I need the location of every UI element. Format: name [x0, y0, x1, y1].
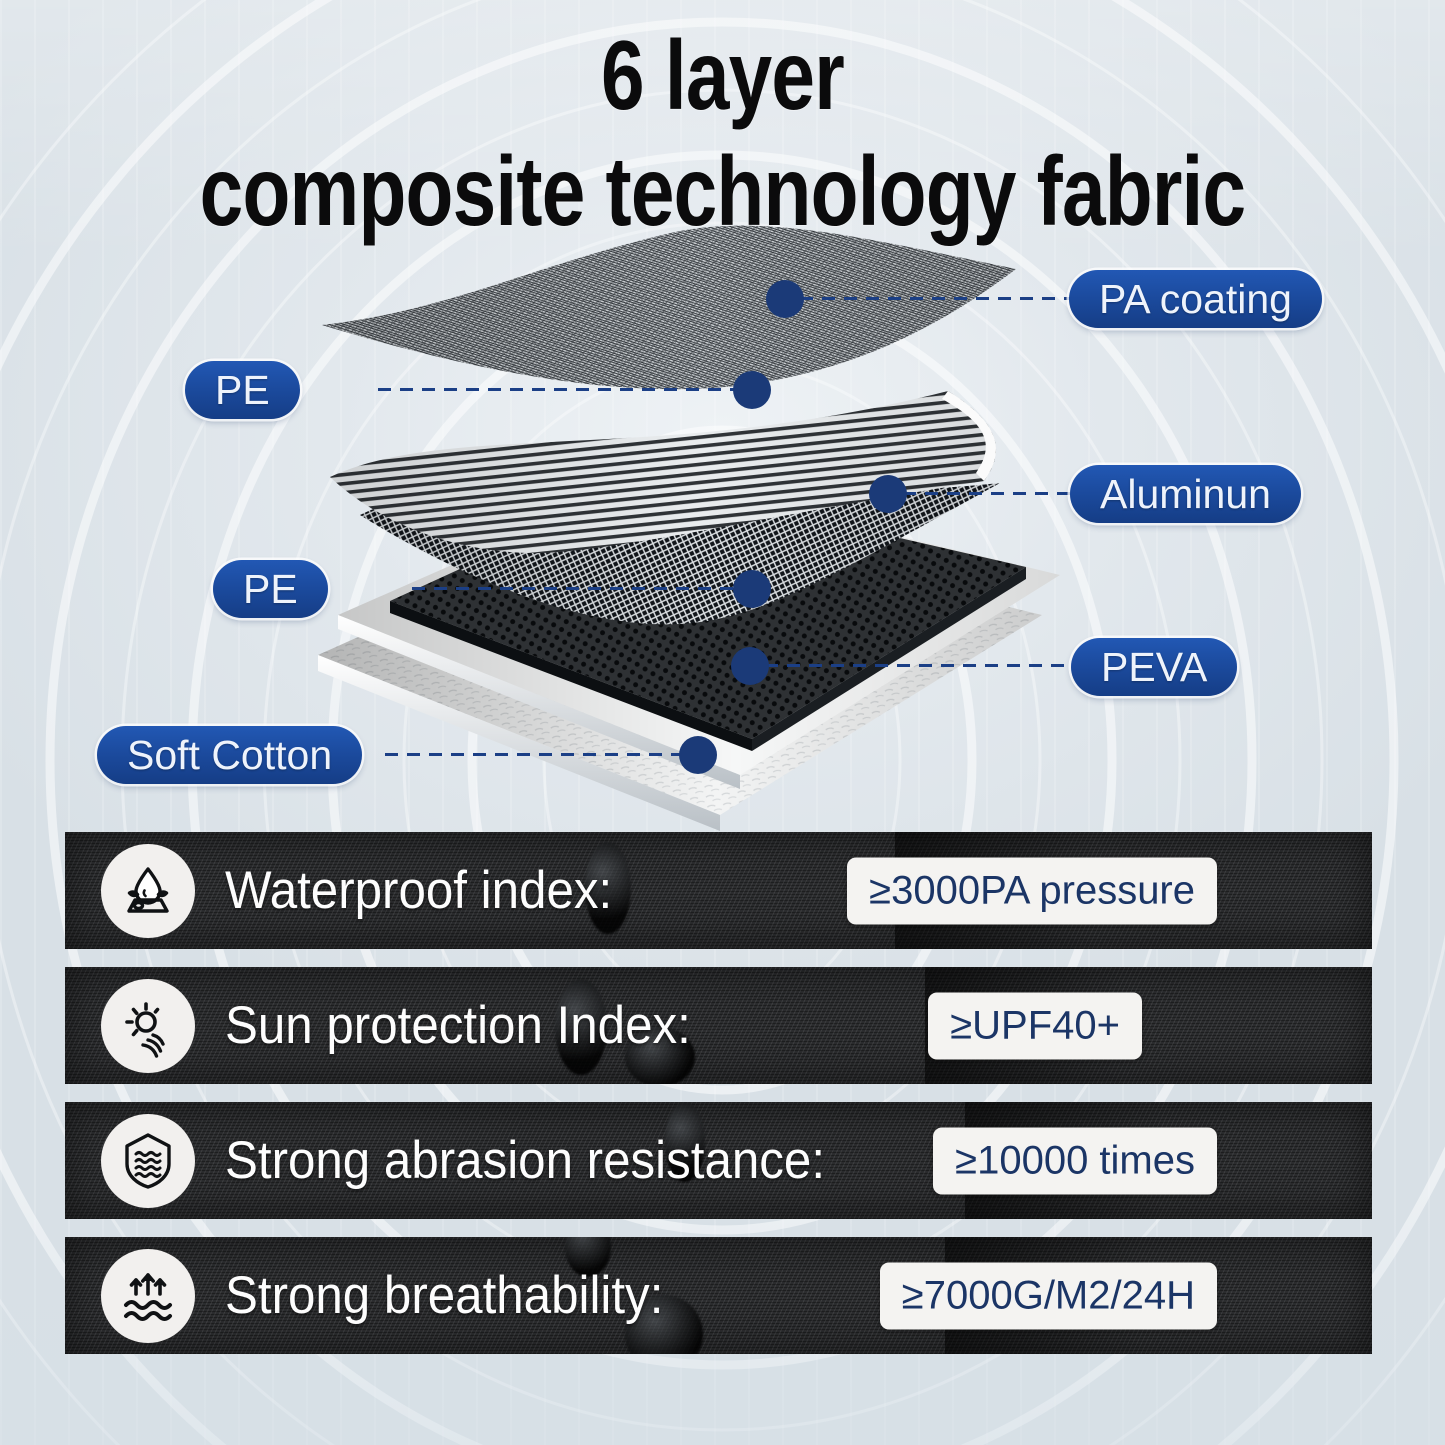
water-drop-icon: [101, 844, 195, 938]
layer-pa-coating: [322, 226, 1016, 390]
feature-label-breathable: Strong breathability:: [225, 1265, 663, 1326]
connector-pe-top: [378, 388, 756, 391]
label-aluminun[interactable]: Aluminun: [1070, 465, 1301, 523]
label-peva-text: PEVA: [1101, 644, 1207, 691]
dot-peva: [731, 647, 769, 685]
dot-soft-cotton: [679, 736, 717, 774]
shield-icon: [101, 1114, 195, 1208]
connector-aluminun: [903, 492, 1071, 495]
infographic-canvas: 6 layer composite technology fabric: [0, 0, 1445, 1445]
label-pe-bottom[interactable]: PE: [213, 560, 328, 618]
page-title: 6 layer composite technology fabric: [0, 26, 1445, 240]
feature-value-waterproof: ≥3000PA pressure: [847, 857, 1217, 924]
connector-pa-coating: [800, 297, 1070, 300]
label-pa-coating-text: PA coating: [1099, 276, 1292, 323]
label-pe-bottom-text: PE: [243, 566, 298, 613]
feature-value-sun: ≥UPF40+: [928, 992, 1142, 1059]
connector-soft-cotton: [385, 753, 703, 756]
feature-label-waterproof: Waterproof index:: [225, 860, 612, 921]
sun-icon: [101, 979, 195, 1073]
fabric-layers-illustration: [300, 215, 1060, 835]
breathability-icon: [101, 1249, 195, 1343]
label-soft-cotton[interactable]: Soft Cotton: [97, 726, 362, 784]
label-pa-coating[interactable]: PA coating: [1069, 270, 1322, 328]
feature-value-abrasion: ≥10000 times: [933, 1127, 1217, 1194]
feature-label-abrasion: Strong abrasion resistance:: [225, 1130, 825, 1191]
dot-aluminun: [869, 475, 907, 513]
feature-list: Waterproof index: ≥3000PA pressure: [65, 832, 1372, 1372]
dot-pe-top: [733, 371, 771, 409]
label-pe-top-text: PE: [215, 367, 270, 414]
label-aluminun-text: Aluminun: [1100, 471, 1271, 518]
title-line-1: 6 layer: [145, 26, 1301, 124]
label-peva[interactable]: PEVA: [1071, 638, 1237, 696]
connector-peva: [765, 664, 1075, 667]
label-pe-top[interactable]: PE: [185, 361, 300, 419]
feature-value-breathable: ≥7000G/M2/24H: [880, 1262, 1217, 1329]
label-soft-cotton-text: Soft Cotton: [127, 732, 332, 779]
feature-row-waterproof: Waterproof index: ≥3000PA pressure: [65, 832, 1372, 949]
feature-label-sun: Sun protection Index:: [225, 995, 691, 1056]
title-line-2: composite technology fabric: [145, 142, 1301, 240]
feature-row-breathable: Strong breathability: ≥7000G/M2/24H: [65, 1237, 1372, 1354]
dot-pe-bottom: [733, 570, 771, 608]
feature-row-sun: Sun protection Index: ≥UPF40+: [65, 967, 1372, 1084]
dot-pa-coating: [766, 280, 804, 318]
feature-row-abrasion: Strong abrasion resistance: ≥10000 times: [65, 1102, 1372, 1219]
connector-pe-bottom: [412, 587, 756, 590]
